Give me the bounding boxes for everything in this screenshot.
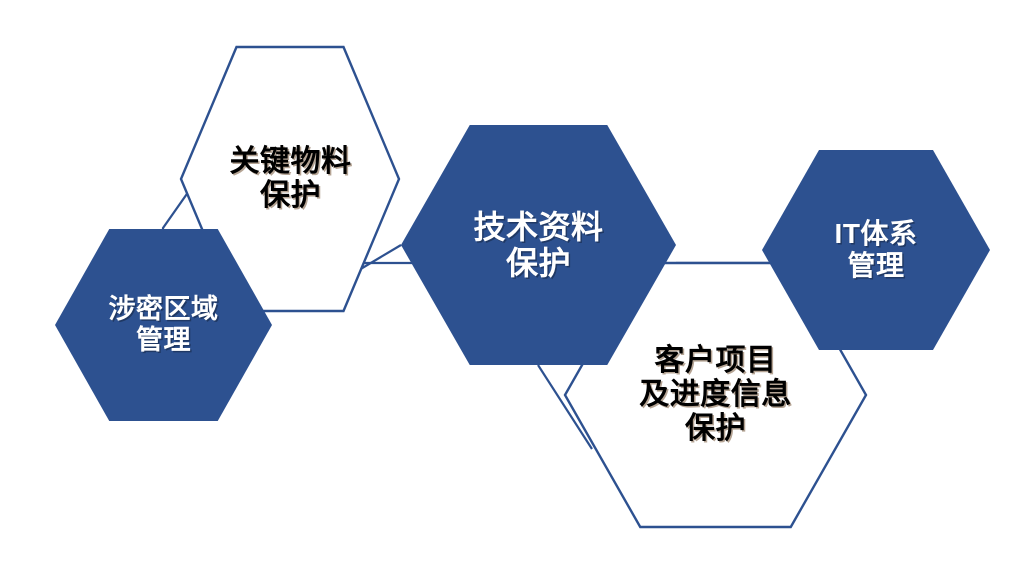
- hexagon-diagram: [0, 0, 1036, 564]
- diagram-canvas: 涉密区域 管理 关键物料 保护 技术资料 保护 客户项目 及进度信息 保护 IT…: [0, 0, 1036, 564]
